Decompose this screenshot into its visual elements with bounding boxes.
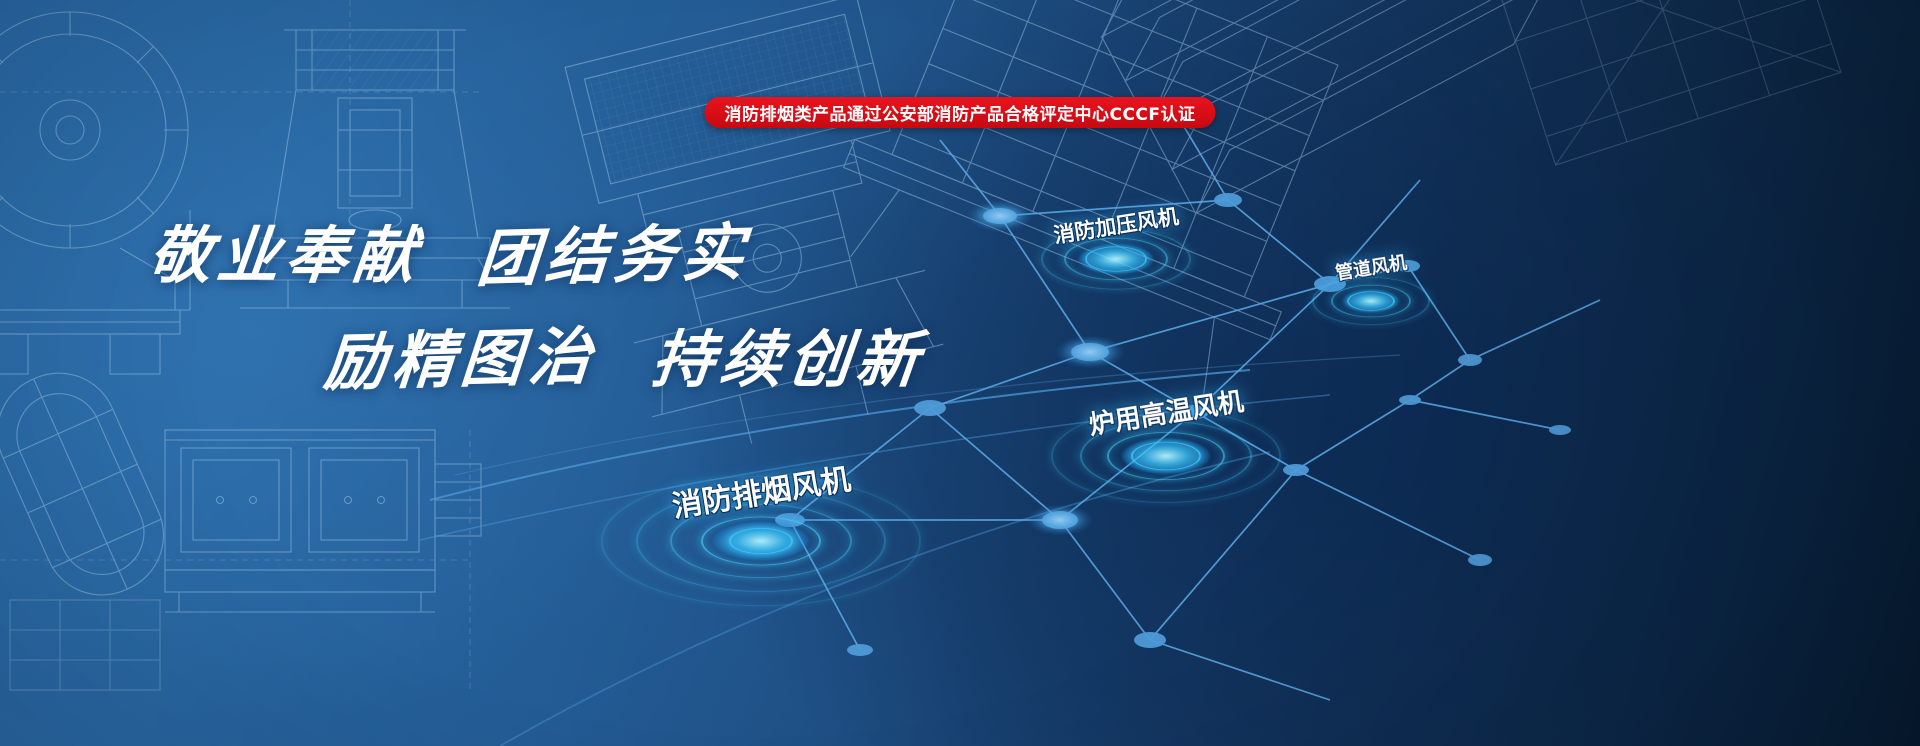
product-node-furnace-fan[interactable]: 炉用高温风机 <box>1165 455 1166 456</box>
slogan-line-1: 敬业奉献 团结务实 <box>150 205 925 295</box>
product-node-smoke-exhaust-fan[interactable]: 消防排烟风机 <box>760 540 761 541</box>
slogan-line-2: 励精图治 持续创新 <box>325 309 925 399</box>
certification-banner[interactable]: 消防排烟类产品通过公安部消防产品合格评定中心CCCF认证 <box>704 97 1215 128</box>
company-slogan: 敬业奉献 团结务实 励精图治 持续创新 <box>150 205 925 399</box>
product-node-label: 管道风机 <box>1333 249 1408 286</box>
product-node-pressure-fan[interactable]: 消防加压风机 <box>1115 258 1116 259</box>
product-node-label: 消防加压风机 <box>1051 200 1180 249</box>
slogan-line2-part1: 励精图治 <box>321 305 601 402</box>
slogan-line1-part1: 敬业奉献 <box>145 205 426 295</box>
product-node-duct-fan[interactable]: 管道风机 <box>1370 300 1371 301</box>
product-node-label: 消防排烟风机 <box>668 454 853 526</box>
hero-banner: 消防排烟类产品通过公安部消防产品合格评定中心CCCF认证 敬业奉献 团结务实 励… <box>0 0 1920 746</box>
slogan-line1-part2: 团结务实 <box>474 201 754 298</box>
product-node-label: 炉用高温风机 <box>1086 381 1246 442</box>
slogan-line2-part2: 持续创新 <box>648 309 929 399</box>
certification-banner-text: 消防排烟类产品通过公安部消防产品合格评定中心CCCF认证 <box>724 100 1195 125</box>
